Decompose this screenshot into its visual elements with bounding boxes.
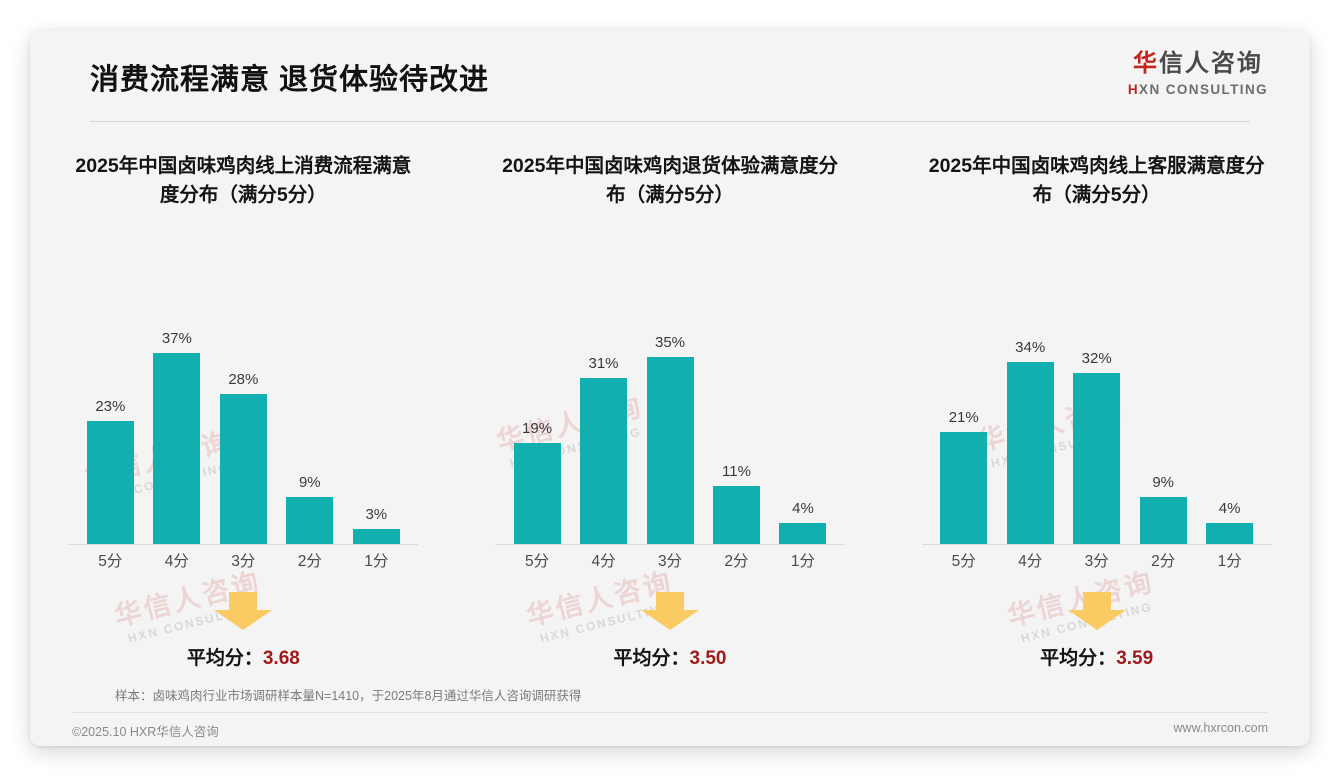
footer-divider [72,712,1268,713]
logo-chinese: 华信人咨询 [1128,52,1268,76]
bar-value-label: 35% [655,334,685,351]
x-axis-label: 1分 [1200,549,1258,571]
x-axis-label: 2分 [707,549,765,571]
bar-column[interactable]: 23% [81,330,139,545]
x-axis-label: 5分 [81,549,139,571]
x-axis-label: 3分 [1068,549,1126,571]
down-arrow-wrap [30,590,457,632]
bar-value-label: 23% [95,398,125,415]
plot-area: 21%34%32%9%4% [883,330,1310,545]
average-score: 平均分：3.59 [883,643,1310,670]
average-value: 3.50 [690,648,727,669]
footer-copyright: ©2025.10 HXR华信人咨询 [72,721,219,740]
x-axis-label: 3分 [641,549,699,571]
down-arrow-wrap [457,590,884,632]
average-label: 平均分： [614,648,690,669]
average-value: 3.59 [1116,648,1153,669]
bar-column[interactable]: 4% [1200,330,1258,545]
plot-area: 23%37%28%9%3% [30,330,457,545]
bar-value-label: 11% [722,463,751,480]
bar-column[interactable]: 28% [214,330,272,545]
x-axis-line [495,544,845,545]
chart-panel: 2025年中国卤味鸡肉线上客服满意度分布（满分5分）华信人咨询HXN CONSU… [883,130,1310,675]
x-axis-label: 4分 [574,549,632,571]
bar-value-label: 9% [1152,474,1174,491]
chart-panel: 2025年中国卤味鸡肉退货体验满意度分布（满分5分）华信人咨询HXN CONSU… [457,130,884,675]
x-axis-label: 4分 [1001,549,1059,571]
bar[interactable] [1073,373,1120,545]
down-arrow-wrap [883,590,1310,632]
plot-area: 19%31%35%11%4% [457,330,884,545]
slide: 消费流程满意 退货体验待改进 华信人咨询 HXN CONSULTING 2025… [30,30,1310,746]
bar-column[interactable]: 11% [707,330,765,545]
bar[interactable] [220,394,267,545]
bar-column[interactable]: 21% [935,330,993,545]
bar-column[interactable]: 9% [1134,330,1192,545]
average-value: 3.68 [263,648,300,669]
x-axis-line [922,544,1272,545]
average-label: 平均分： [1040,648,1116,669]
slide-header: 消费流程满意 退货体验待改进 华信人咨询 HXN CONSULTING [30,30,1310,122]
x-axis-label: 5分 [935,549,993,571]
logo-en-rest: XN CONSULTING [1139,82,1268,97]
bar-value-label: 34% [1015,339,1045,356]
bar-column[interactable]: 3% [347,330,405,545]
x-axis-label: 5分 [508,549,566,571]
x-axis-labels: 5分4分3分2分1分 [508,549,832,571]
chart-title: 2025年中国卤味鸡肉线上客服满意度分布（满分5分） [922,152,1272,211]
x-axis-labels: 5分4分3分2分1分 [81,549,405,571]
down-arrow-icon [639,590,701,632]
down-arrow-icon [1066,590,1128,632]
bar-group: 21%34%32%9%4% [935,330,1259,545]
logo-english: HXN CONSULTING [1128,83,1268,97]
bar[interactable] [514,443,561,545]
bar[interactable] [779,523,826,545]
down-arrow-icon [212,590,274,632]
bar-value-label: 28% [228,371,258,388]
bar-column[interactable]: 34% [1001,330,1059,545]
x-axis-label: 1分 [347,549,405,571]
footer-website: www.hxrcon.com [1174,721,1268,735]
bar-column[interactable]: 31% [574,330,632,545]
bar-value-label: 3% [365,506,387,523]
bar-column[interactable]: 4% [774,330,832,545]
bar[interactable] [1007,362,1054,545]
x-axis-label: 2分 [1134,549,1192,571]
bar-column[interactable]: 9% [281,330,339,545]
bar-value-label: 32% [1082,350,1112,367]
bar-column[interactable]: 35% [641,330,699,545]
x-axis-label: 4分 [148,549,206,571]
average-score: 平均分：3.68 [30,643,457,670]
bar[interactable] [940,432,987,545]
chart-panel: 2025年中国卤味鸡肉线上消费流程满意度分布（满分5分）华信人咨询HXN CON… [30,130,457,675]
bar-value-label: 19% [522,420,552,437]
x-axis-labels: 5分4分3分2分1分 [935,549,1259,571]
logo-cn-accent: 华 [1133,50,1159,77]
bar-value-label: 4% [792,500,814,517]
company-logo: 华信人咨询 HXN CONSULTING [1128,52,1268,97]
sample-footnote: 样本：卤味鸡肉行业市场调研样本量N=1410，于2025年8月通过华信人咨询调研… [115,685,581,704]
bar[interactable] [580,378,627,545]
bar-column[interactable]: 32% [1068,330,1126,545]
chart-title: 2025年中国卤味鸡肉退货体验满意度分布（满分5分） [495,152,845,211]
bar-value-label: 37% [162,330,192,347]
charts-row: 2025年中国卤味鸡肉线上消费流程满意度分布（满分5分）华信人咨询HXN CON… [30,130,1310,675]
logo-en-accent: H [1128,82,1139,97]
bar-group: 23%37%28%9%3% [81,330,405,545]
bar-column[interactable]: 37% [148,330,206,545]
chart-title: 2025年中国卤味鸡肉线上消费流程满意度分布（满分5分） [68,152,418,211]
x-axis-line [68,544,418,545]
average-label: 平均分： [187,648,263,669]
logo-cn-rest: 信人咨询 [1159,50,1263,77]
bar-group: 19%31%35%11%4% [508,330,832,545]
page-title: 消费流程满意 退货体验待改进 [90,56,489,98]
x-axis-label: 2分 [281,549,339,571]
bar-value-label: 4% [1219,500,1241,517]
bar[interactable] [713,486,760,545]
bar[interactable] [1140,497,1187,545]
bar[interactable] [286,497,333,545]
header-divider [90,121,1250,122]
bar-value-label: 21% [949,409,979,426]
bar-value-label: 31% [589,355,619,372]
bar[interactable] [87,421,134,545]
average-score: 平均分：3.50 [457,643,884,670]
x-axis-label: 1分 [774,549,832,571]
bar[interactable] [353,529,400,545]
bar[interactable] [153,353,200,545]
x-axis-label: 3分 [214,549,272,571]
bar-column[interactable]: 19% [508,330,566,545]
bar-value-label: 9% [299,474,321,491]
bar[interactable] [647,357,694,545]
bar[interactable] [1206,523,1253,545]
